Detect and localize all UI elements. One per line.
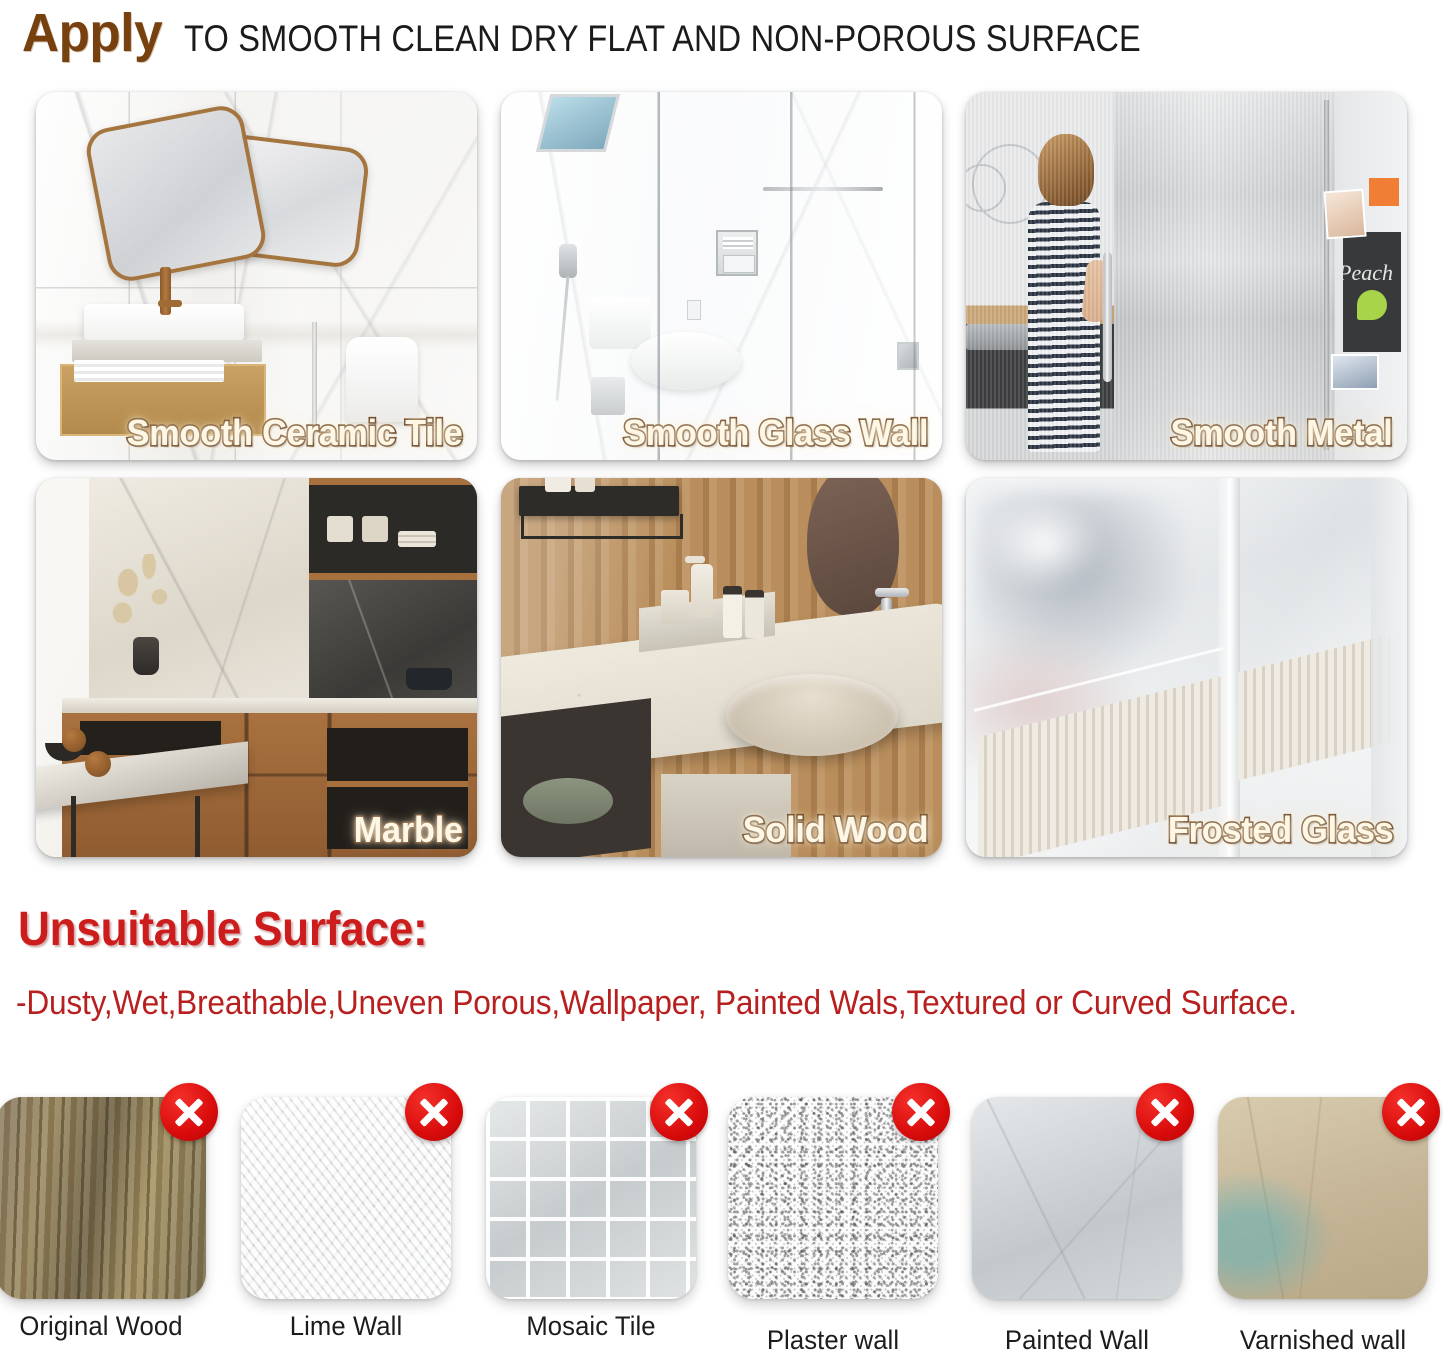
swatch-label: Original Wood: [1, 1311, 201, 1342]
orange-sticky-note: [1369, 178, 1399, 206]
glass-wall-bathroom-art: [501, 92, 942, 460]
swatch-painted-wall[interactable]: Painted Wall: [972, 1097, 1182, 1309]
swatch-label: Varnished wall: [1223, 1325, 1423, 1356]
tumbler-cup: [661, 590, 689, 624]
jar-icon: [575, 478, 595, 492]
dark-vase: [133, 637, 159, 675]
green-stool: [523, 778, 613, 824]
swatch-mosaic-tile[interactable]: Mosaic Tile: [486, 1097, 696, 1309]
surface-card-label: Smooth Metal: [1171, 412, 1393, 454]
surface-card-label: Frosted Glass: [1167, 809, 1393, 851]
unsuitable-section-body: -Dusty,Wet,Breathable,Uneven Porous,Wall…: [16, 975, 1340, 1031]
swatch-label: Plaster wall: [733, 1325, 933, 1356]
surface-card-label: Smooth Ceramic Tile: [127, 412, 463, 454]
mirror-front-icon: [83, 102, 270, 285]
ceramic-tile-bathroom-art: [36, 92, 477, 460]
frosted-glass-art: [966, 478, 1407, 857]
red-circle-x-icon: [1382, 1083, 1440, 1141]
swatch-plaster-wall[interactable]: Plaster wall: [728, 1097, 938, 1309]
swatch-label: Mosaic Tile: [491, 1311, 691, 1342]
marble-kitchen-art: [36, 478, 477, 857]
stainless-refrigerator-art: Peach: [966, 92, 1407, 460]
black-pot: [406, 668, 452, 690]
jar-icon: [545, 478, 571, 492]
table-leg: [71, 796, 76, 857]
product-infographic-page: Apply TO SMOOTH CLEAN DRY FLAT AND NON-P…: [0, 0, 1445, 1361]
swatch-label: Painted Wall: [977, 1325, 1177, 1356]
surface-card-solid-wood[interactable]: Solid Wood: [501, 478, 942, 857]
glass-panel-seam: [1218, 478, 1240, 857]
surface-card-smooth-glass-wall[interactable]: Smooth Glass Wall: [501, 92, 942, 460]
red-circle-x-icon: [892, 1083, 950, 1141]
header-subtitle: TO SMOOTH CLEAN DRY FLAT AND NON-POROUS …: [184, 18, 1141, 60]
folded-towels: [74, 360, 224, 382]
green-speech-magnet: [1357, 290, 1387, 320]
dark-marble-slab: [309, 577, 477, 713]
red-circle-x-icon: [1136, 1083, 1194, 1141]
surface-card-frosted-glass[interactable]: Frosted Glass: [966, 478, 1407, 857]
black-wall-shelf: [519, 486, 679, 516]
unsuitable-swatch-row: Original Wood Lime Wall Mosaic Tile Plas…: [0, 1097, 1445, 1361]
dried-pampas-grass: [107, 554, 177, 649]
vessel-bowl-sink: [726, 674, 898, 756]
stacked-plates: [398, 531, 436, 547]
surface-card-label: Marble: [354, 809, 463, 851]
blurred-highlight: [984, 496, 1104, 591]
mug-icon: [327, 516, 353, 542]
swatch-label: Lime Wall: [246, 1311, 446, 1342]
photo-magnet-1: [1323, 189, 1366, 240]
chalkboard-text: Peach: [1338, 260, 1393, 286]
faucet-icon: [160, 267, 171, 315]
surface-card-marble[interactable]: Marble: [36, 478, 477, 857]
stone-countertop: [62, 698, 477, 713]
fruit-icon: [85, 751, 111, 777]
toiletry-bottle: [723, 586, 742, 638]
right-wall-edge: [1371, 478, 1407, 857]
red-circle-x-icon: [405, 1083, 463, 1141]
surface-card-label: Smooth Glass Wall: [623, 412, 928, 454]
page-header: Apply TO SMOOTH CLEAN DRY FLAT AND NON-P…: [22, 2, 1432, 64]
table-leg: [195, 796, 200, 857]
toilet-icon: [346, 337, 418, 422]
surface-card-smooth-metal[interactable]: Peach Smooth Metal: [966, 92, 1407, 460]
swatch-lime-wall[interactable]: Lime Wall: [241, 1097, 451, 1309]
mug-icon: [362, 516, 388, 542]
vanity-countertop: [72, 340, 262, 362]
red-circle-x-icon: [160, 1083, 218, 1141]
swatch-original-wood[interactable]: Original Wood: [0, 1097, 206, 1309]
surface-card-smooth-ceramic-tile[interactable]: Smooth Ceramic Tile: [36, 92, 477, 460]
fridge-door-seam: [1324, 100, 1329, 450]
unsuitable-section-title: Unsuitable Surface:: [18, 902, 427, 957]
red-circle-x-icon: [650, 1083, 708, 1141]
photo-magnet-2: [1331, 354, 1379, 390]
header-emphasis-word: Apply: [22, 2, 162, 64]
toiletry-bottle: [745, 590, 764, 638]
swatch-varnished-wall[interactable]: Varnished wall: [1218, 1097, 1428, 1309]
soap-dispenser-icon: [691, 564, 713, 618]
solid-wood-vanity-art: [501, 478, 942, 857]
glass-panel-seams: [501, 92, 942, 460]
suitable-surface-grid: Smooth Ceramic Tile Smooth Glass Wall: [36, 92, 1408, 857]
surface-card-label: Solid Wood: [742, 809, 928, 851]
